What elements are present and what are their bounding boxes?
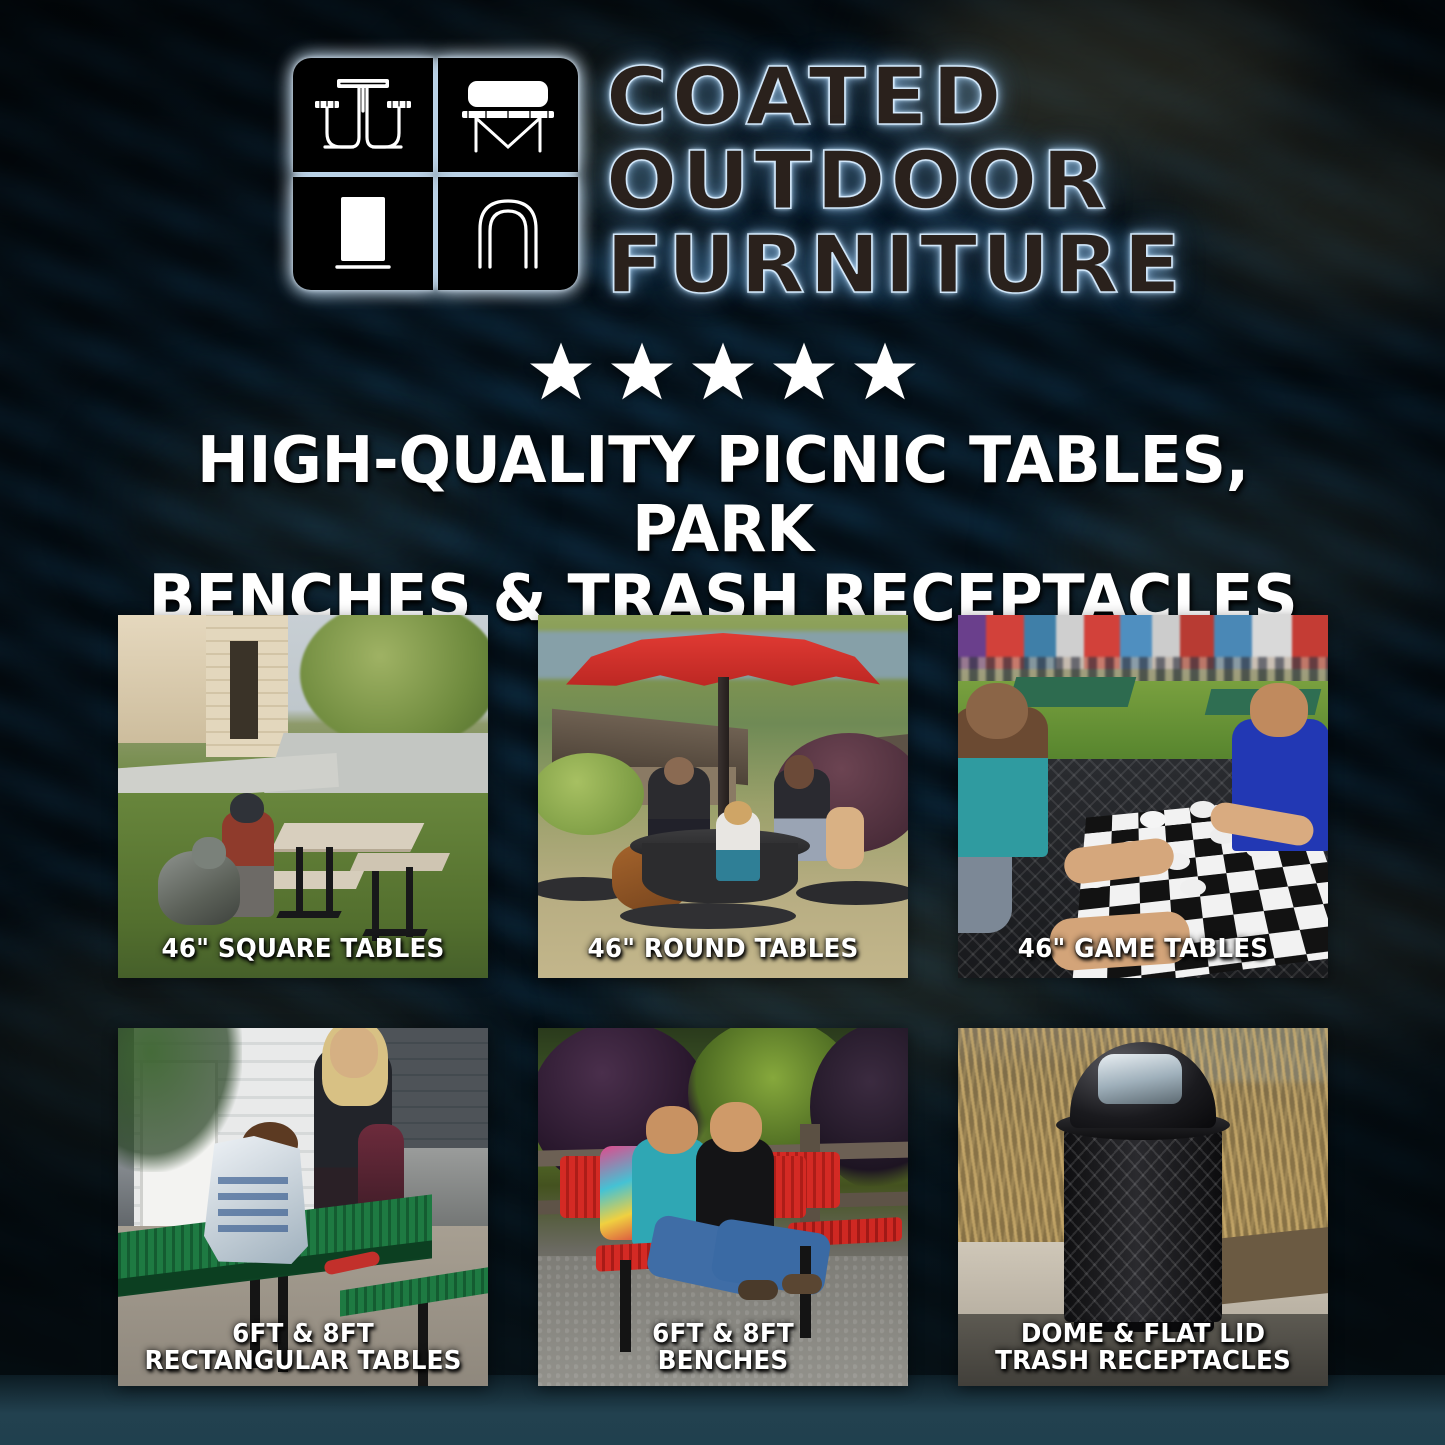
caption-line-2: TRASH RECEPTACLES bbox=[967, 1348, 1319, 1376]
caption-line-1: 46" SQUARE TABLES bbox=[127, 936, 479, 964]
caption-line-1: 46" GAME TABLES bbox=[967, 936, 1319, 964]
product-caption: 46" SQUARE TABLES bbox=[118, 936, 488, 964]
star-icon bbox=[530, 341, 592, 401]
caption-line-1: DOME & FLAT LID bbox=[967, 1321, 1319, 1349]
product-tile-trash-receptacles[interactable]: DOME & FLAT LID TRASH RECEPTACLES bbox=[958, 1028, 1328, 1386]
product-caption: 46" GAME TABLES bbox=[958, 936, 1328, 964]
picnic-table-icon bbox=[293, 58, 433, 172]
product-caption: DOME & FLAT LID TRASH RECEPTACLES bbox=[958, 1321, 1328, 1376]
product-photo bbox=[958, 615, 1328, 978]
product-tile-round-tables[interactable]: 46" ROUND TABLES bbox=[538, 615, 908, 978]
logo-line-coated: COATED bbox=[606, 60, 1185, 136]
promo-banner: COATED OUTDOOR FURNITURE HIGH-QUALITY PI… bbox=[0, 0, 1445, 1445]
brand-wordmark: COATED OUTDOOR FURNITURE bbox=[606, 58, 1152, 303]
product-caption: 46" ROUND TABLES bbox=[538, 936, 908, 964]
product-tile-rectangular-tables[interactable]: 6FT & 8FT RECTANGULAR TABLES bbox=[118, 1028, 488, 1386]
product-tile-benches[interactable]: 6FT & 8FT BENCHES bbox=[538, 1028, 908, 1386]
brand-logo: COATED OUTDOOR FURNITURE bbox=[0, 58, 1445, 303]
product-category-grid: 46" SQUARE TABLES 46 bbox=[118, 615, 1327, 1386]
product-photo bbox=[118, 615, 488, 978]
star-icon bbox=[611, 341, 673, 401]
logo-icon-grid bbox=[293, 58, 578, 290]
product-caption: 6FT & 8FT RECTANGULAR TABLES bbox=[118, 1321, 488, 1376]
caption-line-2: RECTANGULAR TABLES bbox=[127, 1348, 479, 1376]
logo-line-furniture: FURNITURE bbox=[606, 228, 1185, 304]
caption-line-1: 6FT & 8FT bbox=[127, 1321, 479, 1349]
page-title: HIGH-QUALITY PICNIC TABLES, PARK BENCHES… bbox=[88, 427, 1358, 634]
star-rating bbox=[0, 341, 1445, 401]
caption-line-1: 46" ROUND TABLES bbox=[547, 936, 899, 964]
star-icon bbox=[854, 341, 916, 401]
caption-line-2: BENCHES bbox=[547, 1348, 899, 1376]
product-caption: 6FT & 8FT BENCHES bbox=[538, 1321, 908, 1376]
product-photo bbox=[538, 615, 908, 978]
star-icon bbox=[773, 341, 835, 401]
product-tile-square-tables[interactable]: 46" SQUARE TABLES bbox=[118, 615, 488, 978]
logo-line-outdoor: OUTDOOR bbox=[606, 144, 1185, 220]
park-bench-icon bbox=[438, 58, 578, 172]
star-icon bbox=[692, 341, 754, 401]
headline-line-1: HIGH-QUALITY PICNIC TABLES, PARK bbox=[110, 427, 1336, 565]
caption-line-1: 6FT & 8FT bbox=[547, 1321, 899, 1349]
product-tile-game-tables[interactable]: 46" GAME TABLES bbox=[958, 615, 1328, 978]
dome-lid-icon bbox=[438, 177, 578, 291]
trash-receptacle-icon bbox=[293, 177, 433, 291]
